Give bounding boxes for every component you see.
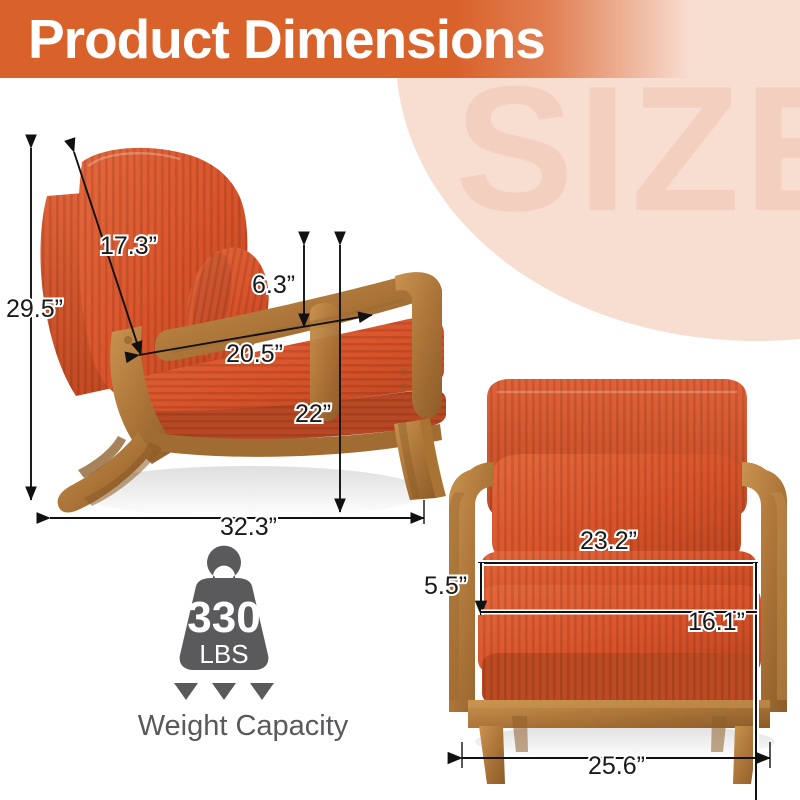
dim-label-overall-height: 29.5” [6,295,63,324]
dim-label-backrest-height: 17.3” [100,232,157,261]
chair-side-view-illustration [40,148,446,518]
side-view-dimension-lines [31,148,424,524]
dim-label-overall-depth: 32.3” [220,513,277,542]
page-title: Product Dimensions [28,4,545,74]
dim-label-cushion-thickness: 5.5” [424,572,467,601]
infographic-canvas: SIZE Product Dimensions [0,0,800,800]
weight-capacity-caption: Weight Capacity [118,710,368,743]
dim-label-overall-width: 25.6” [588,752,645,781]
dim-label-seat-height: 22” [295,400,331,429]
size-watermark: SIZE [455,60,800,238]
dim-label-seat-cushion-gap: 6.3” [252,271,295,300]
weight-capacity-block: Weight Capacity [118,560,368,760]
dim-label-seat-depth: 20.5” [226,340,283,369]
chair-front-view-illustration [449,379,787,784]
dim-label-seat-width: 23.2” [580,527,637,556]
dim-label-seat-depth-front: 16.1” [688,608,745,637]
